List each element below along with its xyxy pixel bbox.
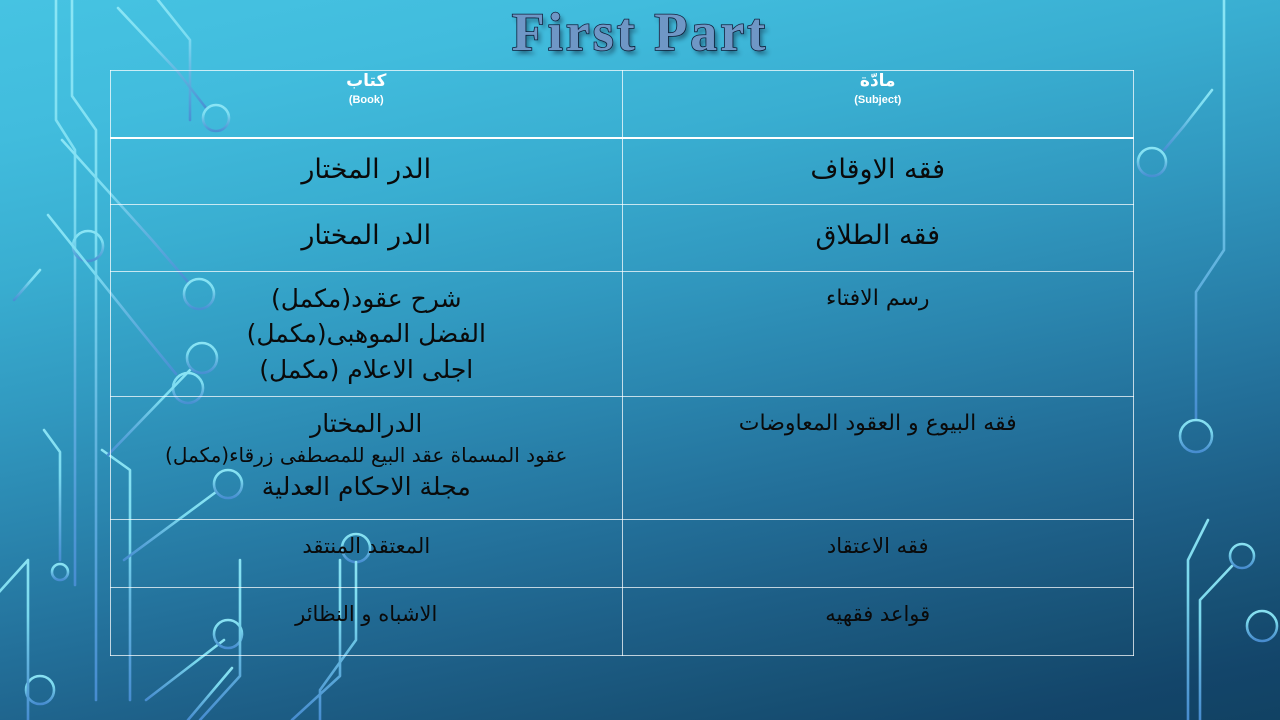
book-line: المعتقد المنتقد: [117, 532, 616, 562]
column-header-book-english: (Book): [111, 94, 622, 107]
subject-cell-content: رسم الافتاء: [623, 272, 1134, 314]
book-cell-content: المعتقد المنتقد: [111, 520, 622, 562]
subject-cell-content: فقه الاعتقاد: [623, 520, 1134, 562]
table-row: المعتقد المنتقد فقه الاعتقاد: [111, 519, 1134, 587]
subject-line: فقه البيوع و العقود المعاوضات: [629, 408, 1128, 439]
book-cell-content: الدر المختار: [111, 139, 622, 189]
table-header-row: كتاب (Book) مادّة (Subject): [111, 71, 1134, 139]
book-cell-content: شرح عقود(مكمل) الفضل الموهبى(مكمل) اجلى …: [111, 272, 622, 388]
table-cell-book: شرح عقود(مكمل) الفضل الموهبى(مكمل) اجلى …: [111, 271, 623, 396]
table-cell-subject: فقه البيوع و العقود المعاوضات: [622, 396, 1134, 519]
book-line: الفضل الموهبى(مكمل): [117, 316, 616, 352]
table-cell-book: الدرالمختار عقود المسماة عقد البيع للمصط…: [111, 396, 623, 519]
table-body: الدر المختار فقه الاوقاف الدر المختار: [111, 138, 1134, 655]
book-line: مجلة الاحكام العدلية: [117, 469, 616, 505]
subject-cell-content: قواعد فقهيه: [623, 588, 1134, 630]
subject-cell-content: فقه البيوع و العقود المعاوضات: [623, 397, 1134, 439]
column-header-subject-arabic: مادّة: [623, 71, 1134, 91]
table-cell-book: الدر المختار: [111, 138, 623, 204]
table-row: الاشباه و النظائر قواعد فقهيه: [111, 587, 1134, 655]
subject-line: رسم الافتاء: [629, 283, 1128, 314]
table-row: الدرالمختار عقود المسماة عقد البيع للمصط…: [111, 396, 1134, 519]
subject-cell-content: فقه الطلاق: [623, 205, 1134, 255]
slide-canvas: First Part كتاب (Book) مادّة (Subject): [0, 0, 1280, 720]
book-line: الدر المختار: [117, 217, 616, 255]
table-row: الدر المختار فقه الاوقاف: [111, 138, 1134, 204]
subject-line: فقه الطلاق: [629, 217, 1128, 255]
book-line: شرح عقود(مكمل): [117, 281, 616, 317]
table-cell-book: الدر المختار: [111, 204, 623, 271]
table-cell-subject: فقه الاوقاف: [622, 138, 1134, 204]
book-cell-content: الدرالمختار عقود المسماة عقد البيع للمصط…: [111, 397, 622, 505]
subject-line: فقه الاعتقاد: [629, 532, 1128, 562]
subjects-table-container: كتاب (Book) مادّة (Subject) الدر المختار: [110, 70, 1134, 653]
column-header-subject-english: (Subject): [623, 94, 1134, 107]
book-line: اجلى الاعلام (مكمل): [117, 352, 616, 388]
table-cell-book: الاشباه و النظائر: [111, 587, 623, 655]
table-cell-subject: قواعد فقهيه: [622, 587, 1134, 655]
book-line: الدرالمختار: [117, 406, 616, 442]
subjects-table: كتاب (Book) مادّة (Subject) الدر المختار: [110, 70, 1134, 656]
column-header-book: كتاب (Book): [111, 71, 623, 139]
book-line: الدر المختار: [117, 151, 616, 189]
book-line: عقود المسماة عقد البيع للمصطفى زرقاء(مكم…: [117, 441, 616, 469]
table-cell-subject: فقه الطلاق: [622, 204, 1134, 271]
table-header: كتاب (Book) مادّة (Subject): [111, 71, 1134, 139]
table-cell-book: المعتقد المنتقد: [111, 519, 623, 587]
table-cell-subject: رسم الافتاء: [622, 271, 1134, 396]
subject-line: فقه الاوقاف: [629, 151, 1128, 189]
slide-title: First Part: [0, 2, 1280, 62]
table-row: شرح عقود(مكمل) الفضل الموهبى(مكمل) اجلى …: [111, 271, 1134, 396]
book-line: الاشباه و النظائر: [117, 600, 616, 630]
book-cell-content: الاشباه و النظائر: [111, 588, 622, 630]
subject-line: قواعد فقهيه: [629, 600, 1128, 630]
table-row: الدر المختار فقه الطلاق: [111, 204, 1134, 271]
book-cell-content: الدر المختار: [111, 205, 622, 255]
table-cell-subject: فقه الاعتقاد: [622, 519, 1134, 587]
column-header-subject: مادّة (Subject): [622, 71, 1134, 139]
column-header-book-arabic: كتاب: [111, 71, 622, 91]
subject-cell-content: فقه الاوقاف: [623, 139, 1134, 189]
